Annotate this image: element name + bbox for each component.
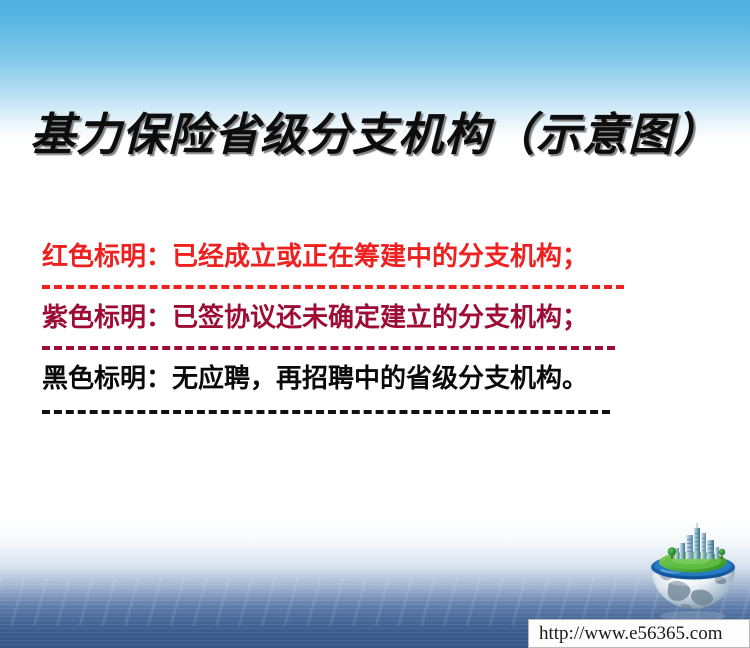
presentation-slide: 基力保险省级分支机构（示意图） 红色标明：已经成立或正在筹建中的分支机构； 紫色… — [0, 0, 750, 648]
url-watermark: http://www.e56365.com — [528, 619, 750, 648]
legend-label-black: 黑色标明：无应聘，再招聘中的省级分支机构。 — [42, 358, 682, 398]
legend-row-red: 红色标明：已经成立或正在筹建中的分支机构； — [42, 236, 682, 289]
legend-divider-purple — [42, 346, 615, 350]
legend-label-red: 红色标明：已经成立或正在筹建中的分支机构； — [42, 236, 682, 276]
slide-title: 基力保险省级分支机构（示意图） — [0, 98, 750, 163]
legend-block: 红色标明：已经成立或正在筹建中的分支机构； 紫色标明：已签协议还未确定建立的分支… — [42, 236, 682, 414]
legend-label-purple: 紫色标明：已签协议还未确定建立的分支机构； — [42, 297, 682, 337]
legend-divider-red — [42, 285, 624, 289]
legend-row-purple: 紫色标明：已签协议还未确定建立的分支机构； — [42, 297, 682, 350]
globe-city-logo-icon — [641, 521, 745, 625]
watermark-url-text: http://www.e56365.com — [529, 620, 749, 647]
legend-row-black: 黑色标明：无应聘，再招聘中的省级分支机构。 — [42, 358, 682, 414]
legend-divider-black — [42, 410, 610, 414]
